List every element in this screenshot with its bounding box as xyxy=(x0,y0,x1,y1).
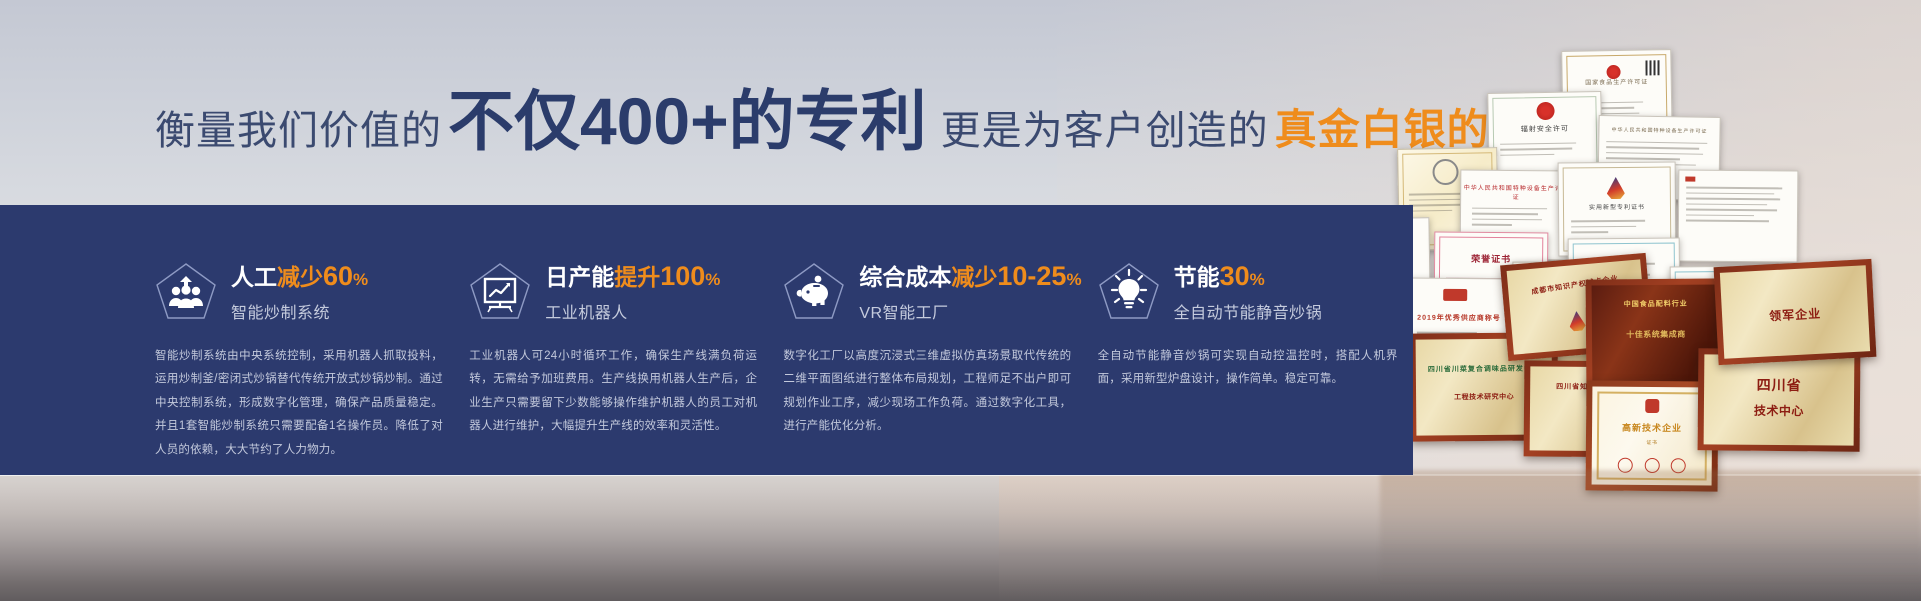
people-group-icon xyxy=(155,262,217,320)
feature-body: 工业机器人可24小时循环工作，确保生产线满负荷运转，无需给予加班费用。生产线换用… xyxy=(469,345,757,439)
award-plaque-title: 高新技术企业 xyxy=(1599,420,1705,437)
award-plaque-title: 中国食品配料行业 xyxy=(1599,299,1712,313)
feature-titles: 节能30% 全自动节能静音炒锅 xyxy=(1174,260,1323,323)
feature-header: 综合成本减少10-25% VR智能工厂 xyxy=(783,260,1089,323)
award-plaque-subtitle xyxy=(1735,281,1852,287)
feature-subtitle: 智能炒制系统 xyxy=(231,299,368,323)
feature-title-highlight: 减少 xyxy=(277,264,323,290)
headline-emphasis: 不仅400+的专利 xyxy=(448,88,927,154)
feature-item: 综合成本减少10-25% VR智能工厂 数字化工厂以高度沉浸式三维虚拟仿真场景取… xyxy=(783,205,1089,475)
feature-item: 人工减少60% 智能炒制系统 智能炒制系统由中央系统控制，采用机器人抓取投料，运… xyxy=(155,205,461,475)
feature-item: 节能30% 全自动节能静音炒锅 全自动节能静音炒锅可实现自动控温控时，搭配人机界… xyxy=(1098,205,1413,475)
feature-titles: 日产能提升100% 工业机器人 xyxy=(545,260,720,323)
certificate-title: 辐射安全许可 xyxy=(1489,123,1601,135)
certificate-collage-lower: 四川省川菜复合调味品研发中心 工程技术研究中心 成都市知识产权试点企业 四川省知… xyxy=(1398,255,1921,505)
feature-title-pre: 节能 xyxy=(1174,264,1220,290)
feature-title: 综合成本减少10-25% xyxy=(859,262,1081,292)
feature-body: 智能炒制系统由中央系统控制，采用机器人抓取投料，运用炒制釜/密闭式炒锅替代传统开… xyxy=(155,345,443,463)
headline-prefix: 衡量我们价值的 xyxy=(155,98,442,156)
lightbulb-icon xyxy=(1098,262,1160,320)
feature-title-pre: 日产能 xyxy=(545,264,614,290)
award-plaque-subtitle: 十佳系统集成商 xyxy=(1605,329,1707,341)
feature-title: 节能30% xyxy=(1174,262,1323,292)
feature-title-percent: % xyxy=(353,270,368,289)
feature-title: 日产能提升100% xyxy=(545,262,720,292)
feature-item: 日产能提升100% 工业机器人 工业机器人可24小时循环工作，确保生产线满负荷运… xyxy=(469,205,775,475)
award-plaque: 领军企业 xyxy=(1714,259,1877,365)
feature-title-number: 30 xyxy=(1220,261,1250,291)
feature-title-pre: 综合成本 xyxy=(859,264,951,290)
chart-board-icon xyxy=(469,262,531,320)
feature-title-number: 100 xyxy=(660,261,705,291)
award-plaque-subtitle: 技术中心 xyxy=(1719,401,1839,419)
feature-title-pre: 人工 xyxy=(231,264,277,290)
piggy-bank-icon xyxy=(783,262,845,320)
features-list: 人工减少60% 智能炒制系统 智能炒制系统由中央系统控制，采用机器人抓取投料，运… xyxy=(0,205,1413,475)
feature-title-percent: % xyxy=(1250,270,1265,289)
feature-subtitle: 全自动节能静音炒锅 xyxy=(1174,299,1323,323)
feature-body: 全自动节能静音炒锅可实现自动控温控时，搭配人机界面，采用新型炉盘设计，操作简单。… xyxy=(1098,345,1398,392)
feature-title: 人工减少60% xyxy=(231,262,368,292)
feature-title-percent: % xyxy=(705,270,720,289)
feature-header: 人工减少60% 智能炒制系统 xyxy=(155,260,461,323)
award-plaque-title: 四川省 xyxy=(1713,372,1845,398)
feature-subtitle: 工业机器人 xyxy=(545,299,720,323)
feature-title-highlight: 减少 xyxy=(951,264,997,290)
collage-reflection xyxy=(1380,470,1921,585)
award-plaque-title: 领军企业 xyxy=(1730,302,1859,330)
feature-header: 日产能提升100% 工业机器人 xyxy=(469,260,775,323)
certificate-title: 实用新型专利证书 xyxy=(1559,201,1675,211)
feature-header: 节能30% 全自动节能静音炒锅 xyxy=(1098,260,1413,323)
certificate-title: 国家食品生产许可证 xyxy=(1563,76,1671,87)
award-plaque-subtitle: 证书 xyxy=(1604,439,1700,447)
feature-title-number: 60 xyxy=(323,261,353,291)
feature-subtitle: VR智能工厂 xyxy=(859,299,1081,323)
certificate-paper xyxy=(1678,169,1799,262)
banner-stage: 衡量我们价值的 不仅400+的专利 更是为客户创造的 真金白银的效益 国家食品生… xyxy=(0,0,1921,601)
headline-middle: 更是为客户创造的 xyxy=(941,98,1269,156)
certificate-title: 中华人民共和国特种设备生产许可证 xyxy=(1599,126,1719,135)
feature-titles: 综合成本减少10-25% VR智能工厂 xyxy=(859,260,1081,323)
feature-title-percent: % xyxy=(1066,270,1081,289)
certificate-title: 中华人民共和国特种设备生产许可证 xyxy=(1461,183,1571,202)
feature-titles: 人工减少60% 智能炒制系统 xyxy=(231,260,368,323)
award-plaque-subtitle: 工程技术研究中心 xyxy=(1430,391,1539,402)
feature-title-highlight: 提升 xyxy=(614,264,660,290)
feature-body: 数字化工厂以高度沉浸式三维虚拟仿真场景取代传统的二维平面图纸进行整体布局规划，工… xyxy=(783,345,1071,439)
features-panel: 人工减少60% 智能炒制系统 智能炒制系统由中央系统控制，采用机器人抓取投料，运… xyxy=(0,205,1413,475)
feature-title-number: 10-25 xyxy=(997,261,1066,291)
